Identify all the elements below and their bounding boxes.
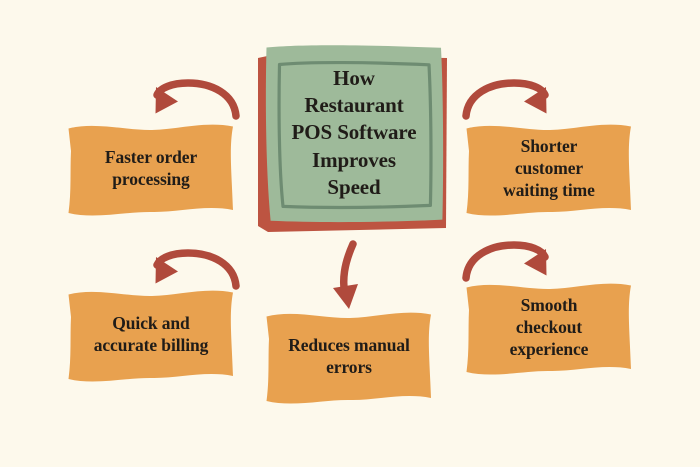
node-label-line: Quick and — [94, 313, 209, 335]
node-label-line: Smooth — [510, 295, 589, 317]
diagram-text-layer: How Restaurant POS Software Improves Spe… — [0, 0, 700, 467]
node-label-line: errors — [288, 357, 410, 379]
center-title-line: Restaurant — [292, 92, 417, 119]
node-label-faster-order-processing: Faster order processing — [68, 124, 234, 214]
infographic-canvas: How Restaurant POS Software Improves Spe… — [0, 0, 700, 467]
center-title-line: Speed — [292, 174, 417, 201]
node-label-quick-and-accurate-billing: Quick and accurate billing — [68, 290, 234, 380]
node-label-line: Shorter — [503, 136, 595, 158]
node-label-line: Faster order — [105, 147, 197, 169]
center-title: How Restaurant POS Software Improves Spe… — [268, 52, 440, 214]
node-label-line: waiting time — [503, 180, 595, 202]
node-label-smooth-checkout-experience: Smooth checkout experience — [466, 283, 632, 373]
node-label-line: checkout — [510, 317, 589, 339]
node-label-shorter-customer-waiting-time: Shorter customer waiting time — [466, 124, 632, 214]
node-label-line: experience — [510, 339, 589, 361]
center-title-line: How — [292, 65, 417, 92]
node-label-reduces-manual-errors: Reduces manual errors — [266, 312, 432, 402]
node-label-line: customer — [503, 158, 595, 180]
center-title-line: Improves — [292, 147, 417, 174]
node-label-line: Reduces manual — [288, 335, 410, 357]
center-title-line: POS Software — [292, 119, 417, 146]
node-label-line: accurate billing — [94, 335, 209, 357]
node-label-line: processing — [105, 169, 197, 191]
